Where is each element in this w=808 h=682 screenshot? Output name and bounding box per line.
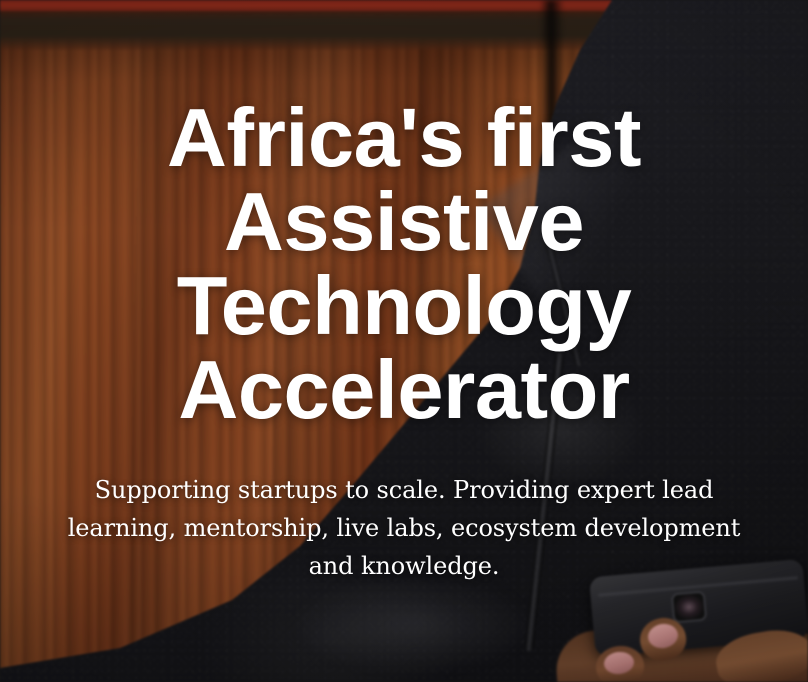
hero-subheadline: Supporting startups to scale. Providing … — [52, 471, 756, 585]
hero-headline: Africa's first Assistive Technology Acce… — [124, 96, 684, 432]
hero-banner: Africa's first Assistive Technology Acce… — [0, 0, 808, 682]
hero-copy: Africa's first Assistive Technology Acce… — [0, 0, 808, 682]
